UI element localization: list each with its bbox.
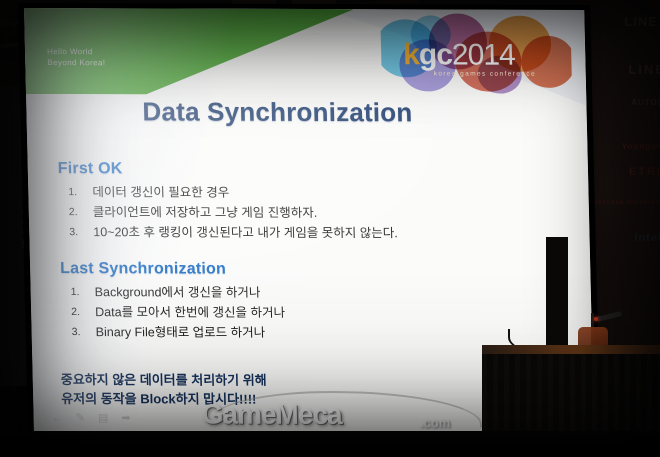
sponsor-logo-autodesk: AUTODESK	[631, 98, 660, 107]
bullet-item: Data를 모아서 한번에 갱신을 하거나	[95, 302, 285, 323]
next-arrow-icon[interactable]: ➡	[121, 413, 130, 424]
kgc-wordmark: kgc2014	[403, 40, 515, 70]
podium-surface	[482, 345, 660, 354]
sponsor-logo-line: LINE	[628, 62, 660, 77]
kgc-letter-g: g	[419, 38, 437, 71]
sponsor-logo-au: Autodesk University	[589, 200, 660, 206]
slide-section-first-ok: First OK 데이터 갱신이 필요한 경우 클라이언트에 저장하고 그냥 게…	[58, 160, 398, 243]
watermark-brand: GameMeca	[201, 398, 342, 430]
bullet-item: 데이터 갱신이 필요한 경우	[92, 182, 397, 203]
slide-title: Data Synchronization	[142, 96, 413, 128]
section-heading: Last Synchronization	[60, 260, 284, 279]
watermark-tld: .com	[420, 415, 451, 430]
bullet-item: 10~20초 후 랭킹이 갱신된다고 내가 게임을 못하지 않는다.	[93, 222, 398, 243]
header-green-band: Hello World Beyond Korea!	[24, 8, 356, 95]
logo-blob	[521, 36, 572, 88]
sponsor-logo-youngwoo: Youngwoo	[622, 142, 660, 151]
conclusion-line-1: 중요하지 않은 데이터를 처리하기 위해	[61, 370, 267, 390]
bullet-item: Binary File형태로 업로드 하거나	[95, 322, 285, 343]
slide-tagline-line2: Beyond Korea!	[47, 57, 105, 68]
previous-arrow-icon[interactable]: ←	[52, 413, 63, 424]
microphone-led-indicator	[594, 317, 598, 321]
conference-photo: Hello World LINE LINE AUTODESK Youngwoo …	[0, 0, 660, 457]
sponsor-logo-0: LINE	[624, 14, 658, 29]
kgc-letter-c: c	[436, 38, 452, 71]
audience-silhouette	[28, 437, 84, 457]
gamemeca-watermark: GameMeca .com	[201, 388, 502, 435]
sponsor-logo-etri: ETRI	[629, 166, 660, 178]
kgc-subtitle: korea games conference	[434, 70, 537, 77]
kgc-year: 2014	[452, 38, 516, 71]
kgc-logo: kgc2014 korea games conference	[380, 13, 572, 94]
slide-tagline: Hello World Beyond Korea!	[47, 46, 106, 68]
sponsor-logo-intel: intel	[634, 232, 660, 244]
section-heading: First OK	[58, 160, 397, 179]
section-bullet-list: 데이터 갱신이 필요한 경우 클라이언트에 저장하고 그냥 게임 진행하자. 1…	[58, 182, 398, 243]
kgc-letter-k: k	[403, 38, 419, 71]
section-bullet-list: Background에서 갱신을 하거나 Data를 모아서 한번에 갱신을 하…	[60, 282, 285, 343]
bullet-item: Background에서 갱신을 하거나	[94, 282, 284, 303]
presentation-controls[interactable]: ← ✎ ▤ ➡	[52, 413, 131, 424]
menu-icon[interactable]: ▤	[98, 413, 109, 424]
slide-tagline-line1: Hello World	[47, 46, 105, 57]
slide-section-last-synchronization: Last Synchronization Background에서 갱신을 하거…	[60, 260, 286, 343]
audience-silhouette	[96, 443, 140, 457]
pen-icon[interactable]: ✎	[76, 413, 85, 424]
bullet-item: 클라이언트에 저장하고 그냥 게임 진행하자.	[93, 202, 398, 223]
